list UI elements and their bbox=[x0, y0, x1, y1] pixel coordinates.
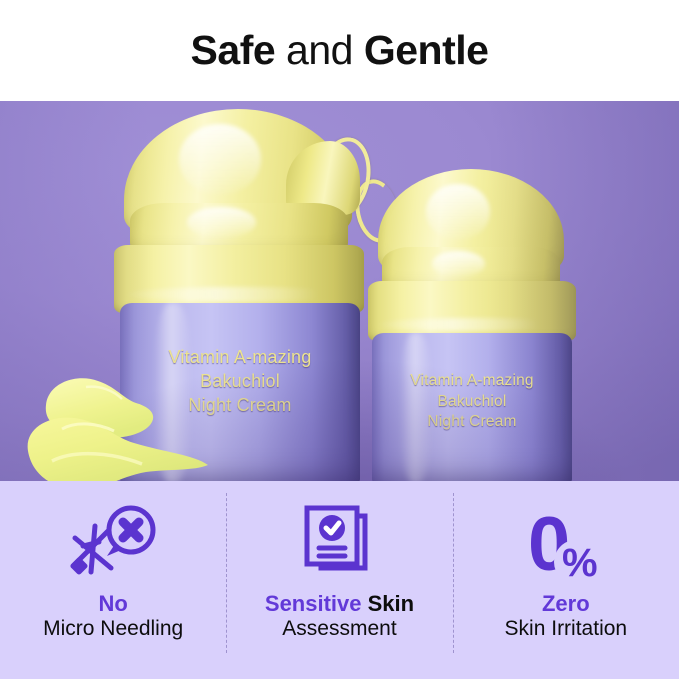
bottle-front-head-gloss bbox=[179, 124, 261, 195]
bottle-front-neck-gloss bbox=[187, 207, 257, 238]
zero-percent-icon: 0 % bbox=[518, 502, 614, 582]
feature-3-line-2: Skin Irritation bbox=[505, 617, 628, 642]
feature-2-line-1: Sensitive Skin bbox=[265, 591, 414, 617]
page-title-part-1: Safe bbox=[191, 27, 276, 73]
feature-3-line-1: Zero bbox=[542, 591, 590, 617]
features-bar: No Micro Needling Sensitive Skin Assessm… bbox=[0, 481, 679, 679]
cream-swatch bbox=[18, 369, 218, 481]
feature-no-micro-needling: No Micro Needling bbox=[0, 481, 226, 679]
feature-1-accent: No bbox=[99, 591, 128, 616]
feature-zero-skin-irritation: 0 % Zero Skin Irritation bbox=[453, 481, 679, 679]
feature-1-line-1: No bbox=[99, 591, 128, 617]
feature-2-line-2: Assessment bbox=[282, 617, 396, 642]
airless-pump-bottle-back: Vitamin A-mazing Bakuchiol Night Cream bbox=[368, 163, 582, 481]
feature-3-accent: Zero bbox=[542, 591, 590, 616]
cream-swatch-icon bbox=[18, 369, 218, 481]
page-title-part-2: and bbox=[275, 27, 364, 73]
feature-1-line-2: Micro Needling bbox=[43, 617, 183, 642]
feature-2-accent: Sensitive bbox=[265, 591, 362, 616]
page-header: Safe and Gentle bbox=[0, 0, 679, 101]
page-title: Safe and Gentle bbox=[191, 27, 489, 74]
bottle-back-head-gloss bbox=[426, 184, 489, 240]
feature-icon-wrap bbox=[299, 499, 379, 585]
bottle-back-body-sheen bbox=[400, 333, 432, 481]
bottle-back-neck-gloss bbox=[432, 251, 485, 277]
svg-text:%: % bbox=[562, 541, 598, 582]
feature-2-rest: Skin bbox=[362, 591, 415, 616]
bottle-front-collar-highlight bbox=[124, 287, 354, 302]
document-check-icon bbox=[299, 502, 379, 582]
page-title-part-3: Gentle bbox=[364, 27, 489, 73]
product-photo: Vitamin A-mazing Bakuchiol Night Cream V… bbox=[0, 101, 679, 481]
feature-sensitive-skin-assessment: Sensitive Skin Assessment bbox=[226, 481, 452, 679]
bottle-back-body bbox=[372, 333, 572, 481]
bottle-back-collar bbox=[368, 281, 576, 341]
crossed-needles-no-icon bbox=[65, 502, 161, 582]
feature-icon-wrap bbox=[65, 499, 161, 585]
feature-icon-wrap: 0 % bbox=[518, 499, 614, 585]
bottle-back-collar-highlight bbox=[376, 318, 567, 331]
